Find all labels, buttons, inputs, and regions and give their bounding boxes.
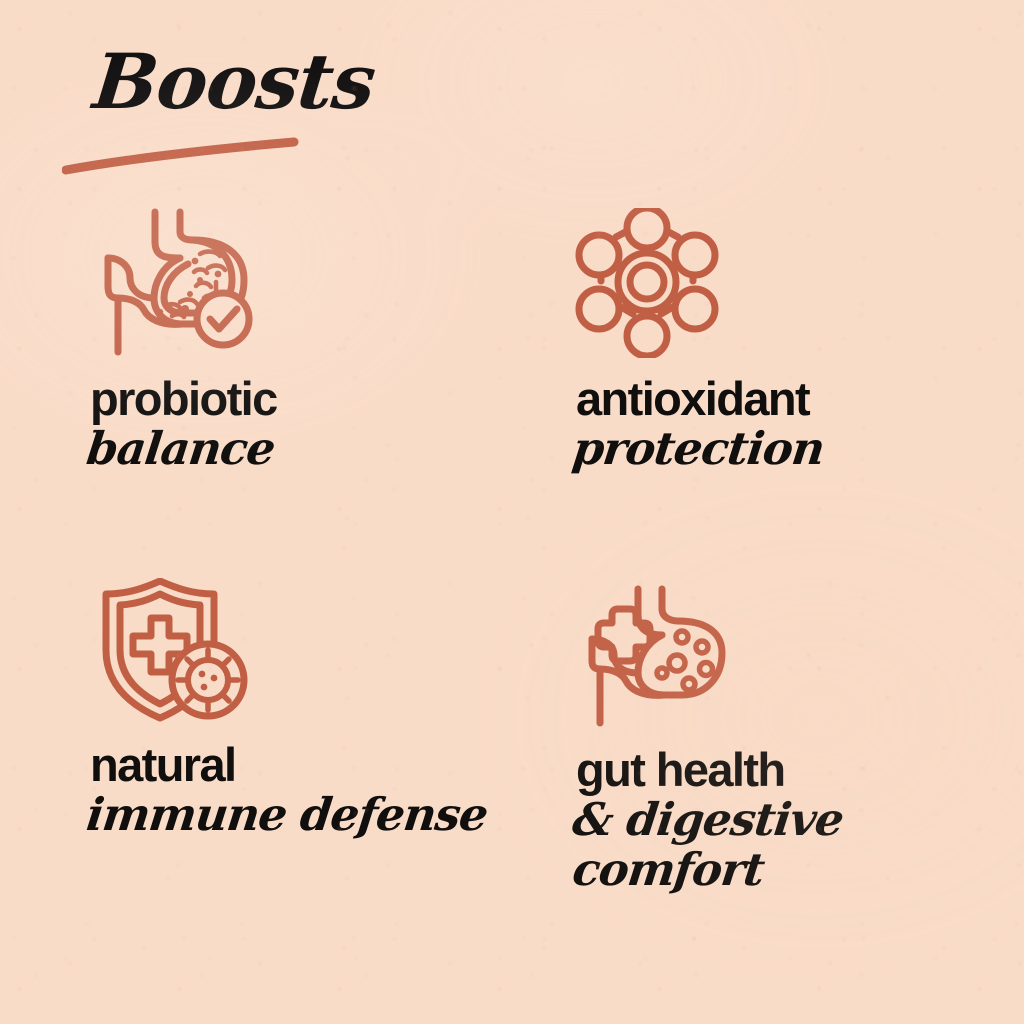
benefit-line-secondary: protection	[570, 424, 827, 474]
benefit-line-primary: gut health	[576, 745, 846, 795]
benefits-poster: Boosts	[0, 0, 1024, 1024]
benefit-label-probiotic: probiotic balance	[90, 374, 277, 474]
benefit-line-primary: antioxidant	[576, 374, 827, 424]
benefit-card-gut: gut health & digestive comfort	[566, 585, 996, 935]
benefit-card-probiotic: probiotic balance	[88, 206, 508, 506]
benefit-line-primary: probiotic	[90, 374, 277, 424]
benefit-card-antioxidant: antioxidant protection	[566, 206, 996, 506]
benefit-label-gut: gut health & digestive comfort	[576, 745, 846, 895]
benefit-label-immune: natural immune defense	[90, 740, 490, 840]
benefit-line-secondary: & digestive	[570, 795, 846, 845]
brush-underline-icon	[62, 132, 302, 178]
poster-header: Boosts	[62, 44, 482, 169]
benefit-line-primary: natural	[90, 740, 490, 790]
page-title: Boosts	[90, 44, 378, 120]
stomach-probiotic-check-icon	[96, 206, 272, 358]
benefit-line-secondary: balance	[84, 424, 277, 474]
benefit-card-immune: natural immune defense	[88, 578, 558, 898]
molecule-antioxidant-icon	[572, 208, 722, 358]
shield-cross-virus-icon	[96, 578, 252, 722]
benefit-label-antioxidant: antioxidant protection	[576, 374, 827, 474]
benefit-line-tertiary: comfort	[570, 845, 846, 895]
benefit-line-secondary: immune defense	[84, 790, 490, 840]
stomach-cross-bubbles-icon	[576, 585, 736, 731]
